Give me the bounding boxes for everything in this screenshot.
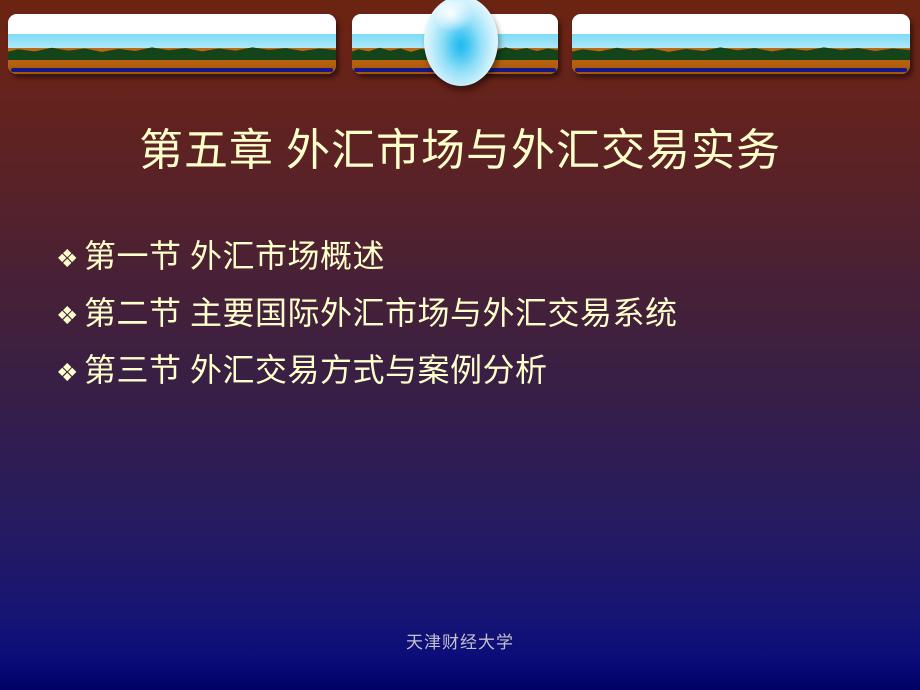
cloud-band-icon: [8, 14, 336, 26]
list-item[interactable]: ❖ 第一节 外汇市场概述: [56, 236, 916, 293]
agenda-list: ❖ 第一节 外汇市场概述 ❖ 第二节 主要国际外汇市场与外汇交易系统 ❖ 第三节…: [56, 236, 916, 407]
diamond-bullet-icon: ❖: [56, 304, 84, 329]
river-line: [11, 68, 332, 72]
slide-header-banner: [0, 0, 920, 92]
slide-footer: 天津财经大学: [0, 632, 920, 654]
river-line: [575, 68, 906, 72]
diamond-bullet-icon: ❖: [56, 361, 84, 386]
list-item-label: 第二节 主要国际外汇市场与外汇交易系统: [84, 293, 678, 333]
list-item[interactable]: ❖ 第二节 主要国际外汇市场与外汇交易系统: [56, 293, 916, 350]
list-item-label: 第一节 外汇市场概述: [84, 236, 385, 276]
list-item-label: 第三节 外汇交易方式与案例分析: [84, 350, 548, 390]
presentation-slide: 第五章 外汇市场与外汇交易实务 ❖ 第一节 外汇市场概述 ❖ 第二节 主要国际外…: [0, 0, 920, 690]
list-item[interactable]: ❖ 第三节 外汇交易方式与案例分析: [56, 350, 916, 407]
cloud-band-icon: [572, 14, 910, 26]
glowing-globe-icon: [424, 0, 498, 86]
landscape-panel-right: [572, 14, 910, 74]
landscape-panel-left: [8, 14, 336, 74]
slide-title: 第五章 外汇市场与外汇交易实务: [0, 124, 920, 178]
diamond-bullet-icon: ❖: [56, 247, 84, 272]
